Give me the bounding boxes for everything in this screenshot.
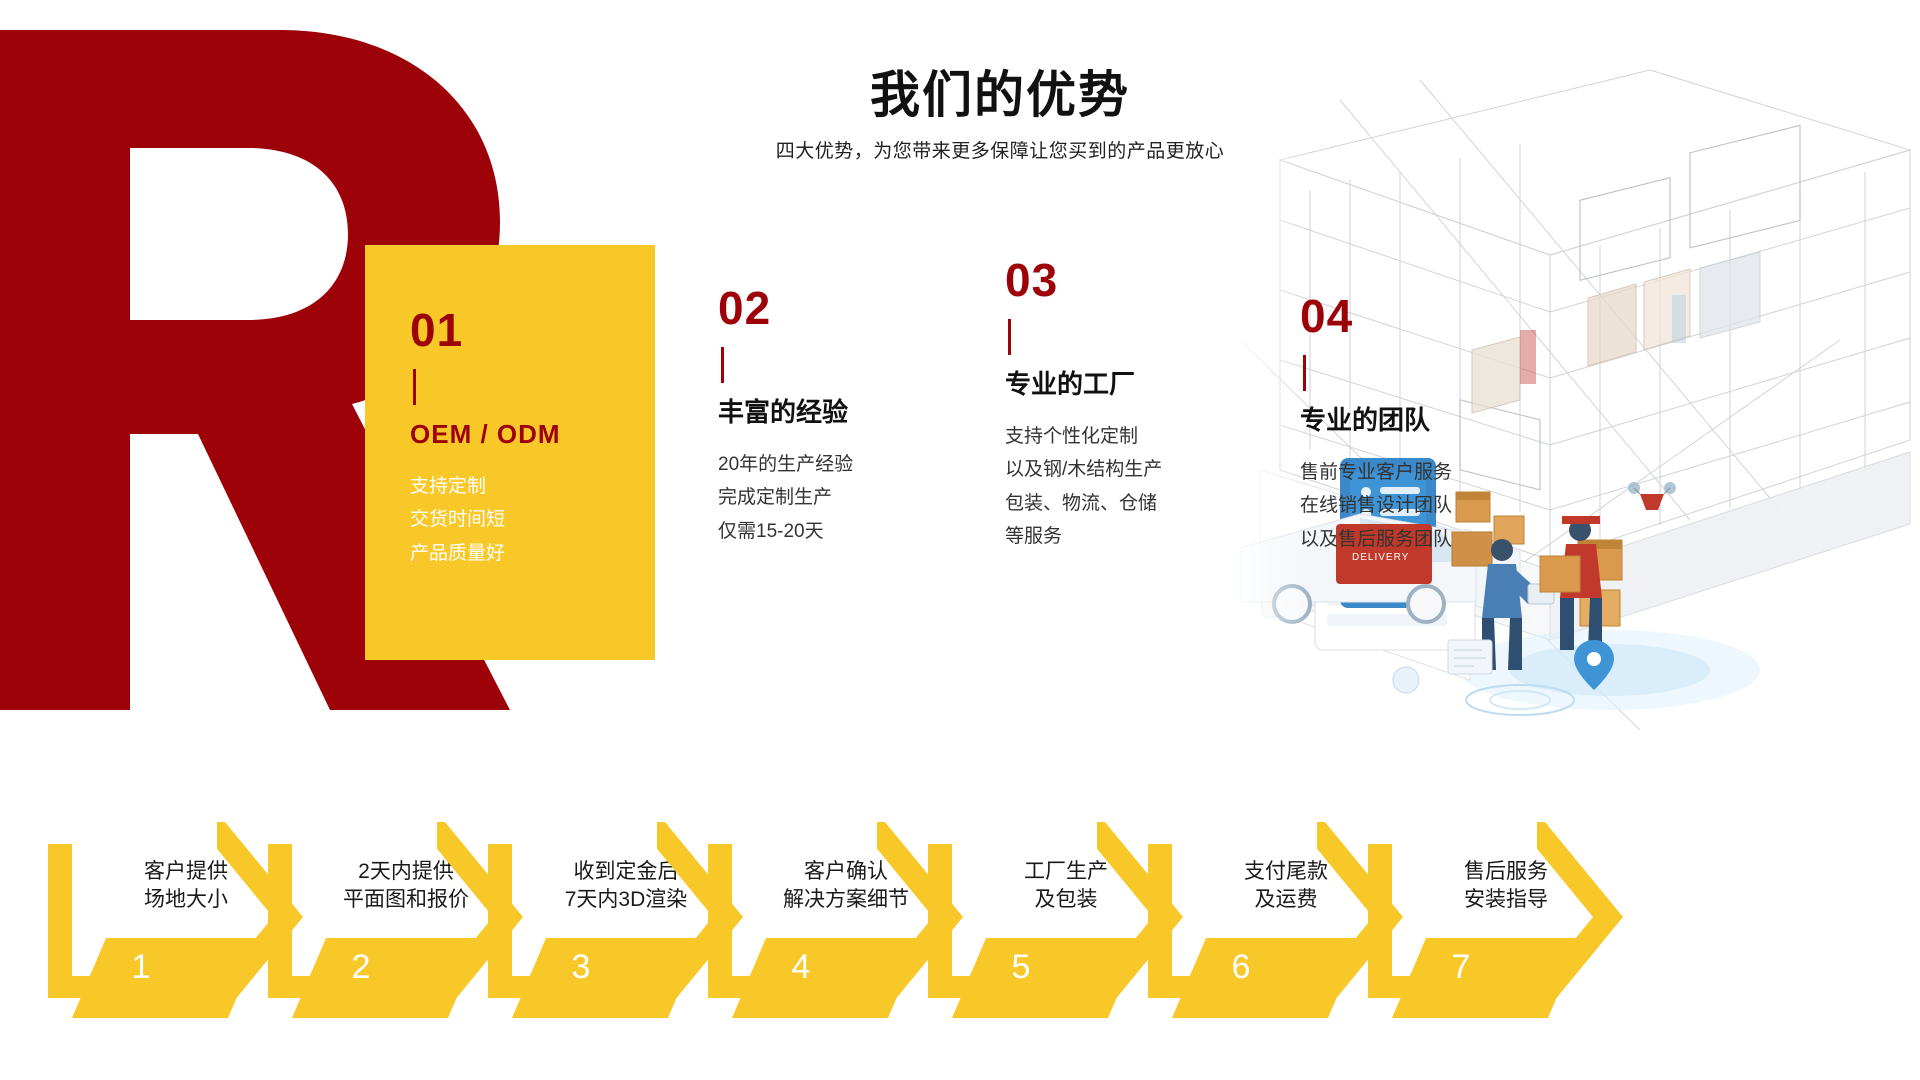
advantage-body-line: 仅需15-20天 — [718, 515, 853, 548]
poster-canvas: DELIVERY — [0, 0, 1920, 1080]
advantage-body-line: 包装、物流、仓储 — [1005, 487, 1162, 520]
page-subtitle: 四大优势，为您带来更多保障让您买到的产品更放心 — [690, 139, 1310, 166]
page-title: 我们的优势 — [690, 68, 1310, 123]
step-number: 4 — [746, 950, 856, 984]
advantage-number: 03 — [1005, 257, 1162, 303]
advantage-body-line: 产品质量好 — [410, 537, 655, 570]
advantage-body-line: 支持定制 — [410, 470, 655, 503]
section-header: 我们的优势 四大优势，为您带来更多保障让您买到的产品更放心 — [690, 68, 1310, 166]
step-number: 1 — [86, 950, 196, 984]
advantage-body-line: 20年的生产经验 — [718, 448, 853, 481]
process-flow: 客户提供 场地大小 1 2天内提供 平面图和报价 2 收到定金后 7天内3D渲染 — [0, 810, 1920, 1020]
step-number: 3 — [526, 950, 636, 984]
advantage-body-line: 以及售后服务团队 — [1300, 523, 1452, 556]
advantage-number: 01 — [410, 307, 655, 353]
advantage-body: 售前专业客户服务 在线销售设计团队 以及售后服务团队 — [1300, 456, 1452, 556]
divider-rule — [1303, 355, 1306, 391]
advantage-card-02[interactable]: 02 丰富的经验 20年的生产经验 完成定制生产 仅需15-20天 — [718, 285, 853, 548]
advantage-card-03[interactable]: 03 专业的工厂 支持个性化定制 以及钢/木结构生产 包装、物流、仓储 等服务 — [1005, 257, 1162, 553]
process-step-7[interactable]: 售后服务 安装指导 7 — [1348, 810, 1623, 1020]
advantage-body-line: 支持个性化定制 — [1005, 420, 1162, 453]
step-number: 6 — [1186, 950, 1296, 984]
advantage-body-line: 等服务 — [1005, 520, 1162, 553]
divider-rule — [1008, 319, 1011, 355]
advantage-body-line: 售前专业客户服务 — [1300, 456, 1452, 489]
advantage-body-line: 在线销售设计团队 — [1300, 489, 1452, 522]
advantage-body: 支持个性化定制 以及钢/木结构生产 包装、物流、仓储 等服务 — [1005, 420, 1162, 553]
divider-rule — [721, 347, 724, 383]
divider-rule — [413, 369, 416, 405]
step-number: 2 — [306, 950, 416, 984]
advantage-body-line: 交货时间短 — [410, 503, 655, 536]
advantage-heading: 丰富的经验 — [718, 397, 853, 428]
advantage-body: 20年的生产经验 完成定制生产 仅需15-20天 — [718, 448, 853, 548]
advantage-heading: OEM / ODM — [410, 419, 655, 450]
advantage-card-04[interactable]: 04 专业的团队 售前专业客户服务 在线销售设计团队 以及售后服务团队 — [1300, 293, 1452, 556]
advantage-heading: 专业的工厂 — [1005, 369, 1162, 400]
advantage-heading: 专业的团队 — [1300, 405, 1452, 436]
advantage-body-line: 以及钢/木结构生产 — [1005, 453, 1162, 486]
advantage-card-01[interactable]: 01 OEM / ODM 支持定制 交货时间短 产品质量好 — [365, 245, 655, 660]
advantage-number: 04 — [1300, 293, 1452, 339]
step-number: 7 — [1406, 950, 1516, 984]
step-chevron-icon — [1537, 822, 1629, 1012]
advantage-body-line: 完成定制生产 — [718, 481, 853, 514]
advantage-number: 02 — [718, 285, 853, 331]
advantage-body: 支持定制 交货时间短 产品质量好 — [410, 470, 655, 570]
step-number: 5 — [966, 950, 1076, 984]
advantages-row: 01 OEM / ODM 支持定制 交货时间短 产品质量好 02 丰富的经验 2… — [0, 245, 1920, 675]
